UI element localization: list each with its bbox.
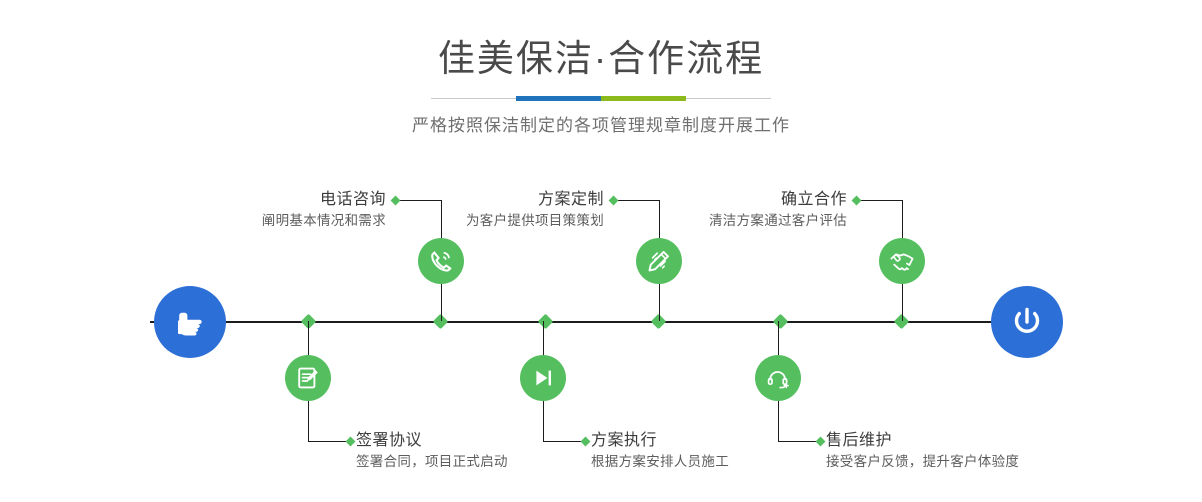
- step-desc-4: 根据方案安排人员施工: [591, 452, 831, 472]
- step-connector-horizontal-4: [543, 441, 585, 442]
- step-title-5: 确立合作: [612, 189, 847, 211]
- step-node-2[interactable]: [285, 355, 331, 401]
- step-node-3[interactable]: [636, 238, 682, 284]
- step-stem-3: [659, 284, 660, 321]
- step-label-6: 售后维护 接受客户反馈，提升客户体验度: [826, 430, 1086, 472]
- timeline-end-node[interactable]: [991, 286, 1063, 358]
- step-connector-vertical-5: [902, 200, 903, 238]
- step-connector-vertical-6: [778, 401, 779, 441]
- document-pen-icon: [295, 365, 321, 391]
- step-tip-dot-2: [346, 437, 356, 447]
- step-stem-1: [441, 284, 442, 321]
- pointing-hand-icon: [170, 302, 210, 342]
- step-connector-horizontal-6: [778, 441, 820, 442]
- step-label-1: 电话咨询 阐明基本情况和需求: [150, 189, 386, 231]
- step-stem-6: [778, 321, 779, 355]
- step-desc-5: 清洁方案通过客户评估: [612, 211, 847, 231]
- axis-marker-5: [773, 314, 789, 330]
- power-icon: [1006, 301, 1048, 343]
- step-stem-2: [308, 321, 309, 355]
- step-label-2: 签署协议 签署合同，项目正式启动: [356, 430, 596, 472]
- step-label-5: 确立合作 清洁方案通过客户评估: [612, 189, 847, 231]
- step-desc-3: 为客户提供项目策策划: [370, 211, 604, 231]
- step-connector-vertical-2: [308, 401, 309, 441]
- handshake-icon: [888, 247, 916, 275]
- process-timeline: 电话咨询 阐明基本情况和需求 签署协议 签署合同，项目正式启动: [0, 0, 1202, 502]
- step-stem-5: [902, 284, 903, 321]
- step-tip-dot-5: [852, 196, 862, 206]
- timeline-axis: [150, 321, 1050, 323]
- pencil-ruler-icon: [646, 248, 672, 274]
- play-skip-icon: [530, 365, 556, 391]
- step-label-3: 方案定制 为客户提供项目策策划: [370, 189, 604, 231]
- step-connector-vertical-4: [543, 401, 544, 441]
- step-desc-6: 接受客户反馈，提升客户体验度: [826, 452, 1086, 472]
- step-node-5[interactable]: [879, 238, 925, 284]
- step-node-1[interactable]: [418, 238, 464, 284]
- step-desc-1: 阐明基本情况和需求: [150, 211, 386, 231]
- step-title-3: 方案定制: [370, 189, 604, 211]
- axis-marker-3: [538, 314, 554, 330]
- step-label-4: 方案执行 根据方案安排人员施工: [591, 430, 831, 472]
- step-stem-4: [543, 321, 544, 355]
- timeline-start-node[interactable]: [154, 286, 226, 358]
- step-title-6: 售后维护: [826, 430, 1086, 452]
- step-desc-2: 签署合同，项目正式启动: [356, 452, 596, 472]
- headset-support-icon: [765, 365, 791, 391]
- step-node-4[interactable]: [520, 355, 566, 401]
- phone-call-icon: [427, 247, 455, 275]
- step-title-1: 电话咨询: [150, 189, 386, 211]
- step-node-6[interactable]: [755, 355, 801, 401]
- step-connector-horizontal-2: [308, 441, 350, 442]
- step-connector-horizontal-5: [856, 200, 902, 201]
